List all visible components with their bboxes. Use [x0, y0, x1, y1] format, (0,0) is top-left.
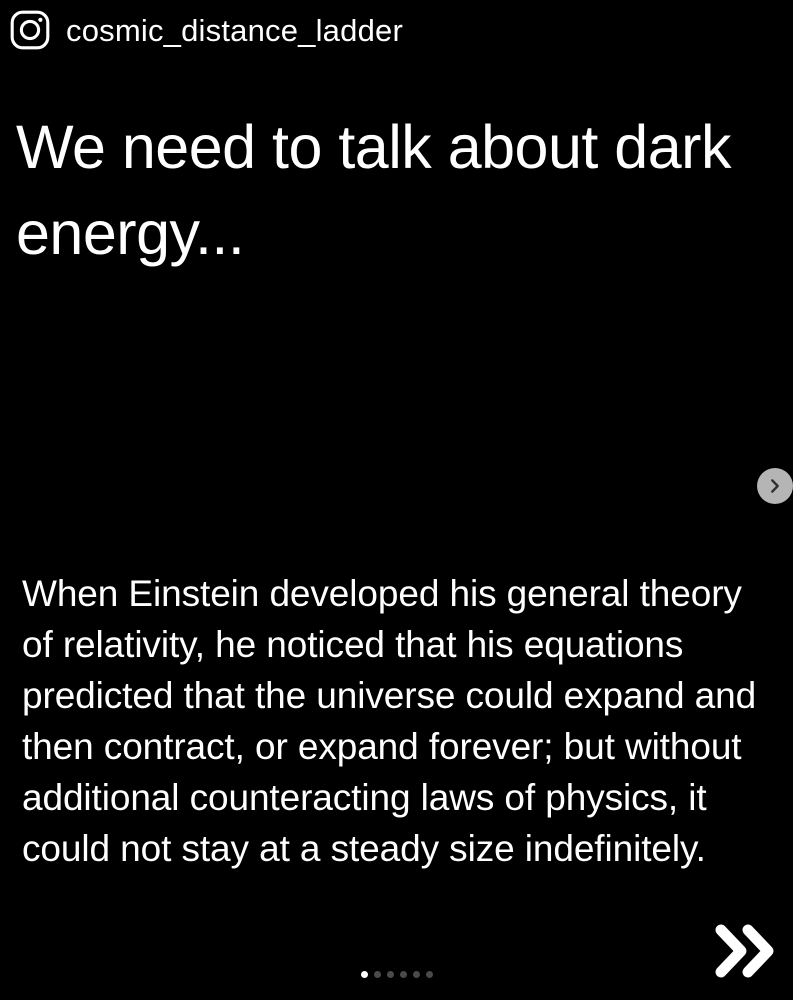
- story-slide: cosmic_distance_ladder We need to talk a…: [0, 0, 793, 1000]
- pagination-dot[interactable]: [387, 971, 394, 978]
- pagination-dot[interactable]: [361, 971, 368, 978]
- account-row[interactable]: cosmic_distance_ladder: [8, 8, 403, 52]
- pagination-dot[interactable]: [374, 971, 381, 978]
- slide-headline: We need to talk about dark energy...: [16, 104, 746, 276]
- pagination-dot[interactable]: [426, 971, 433, 978]
- next-slide-button[interactable]: [757, 468, 793, 504]
- pagination-dot[interactable]: [400, 971, 407, 978]
- chevron-right-icon: [766, 477, 784, 495]
- instagram-camera-icon: [8, 8, 52, 52]
- pagination-dot[interactable]: [413, 971, 420, 978]
- slide-body-text: When Einstein developed his general theo…: [22, 568, 762, 874]
- pagination-dots: [0, 971, 793, 978]
- account-username: cosmic_distance_ladder: [66, 15, 403, 46]
